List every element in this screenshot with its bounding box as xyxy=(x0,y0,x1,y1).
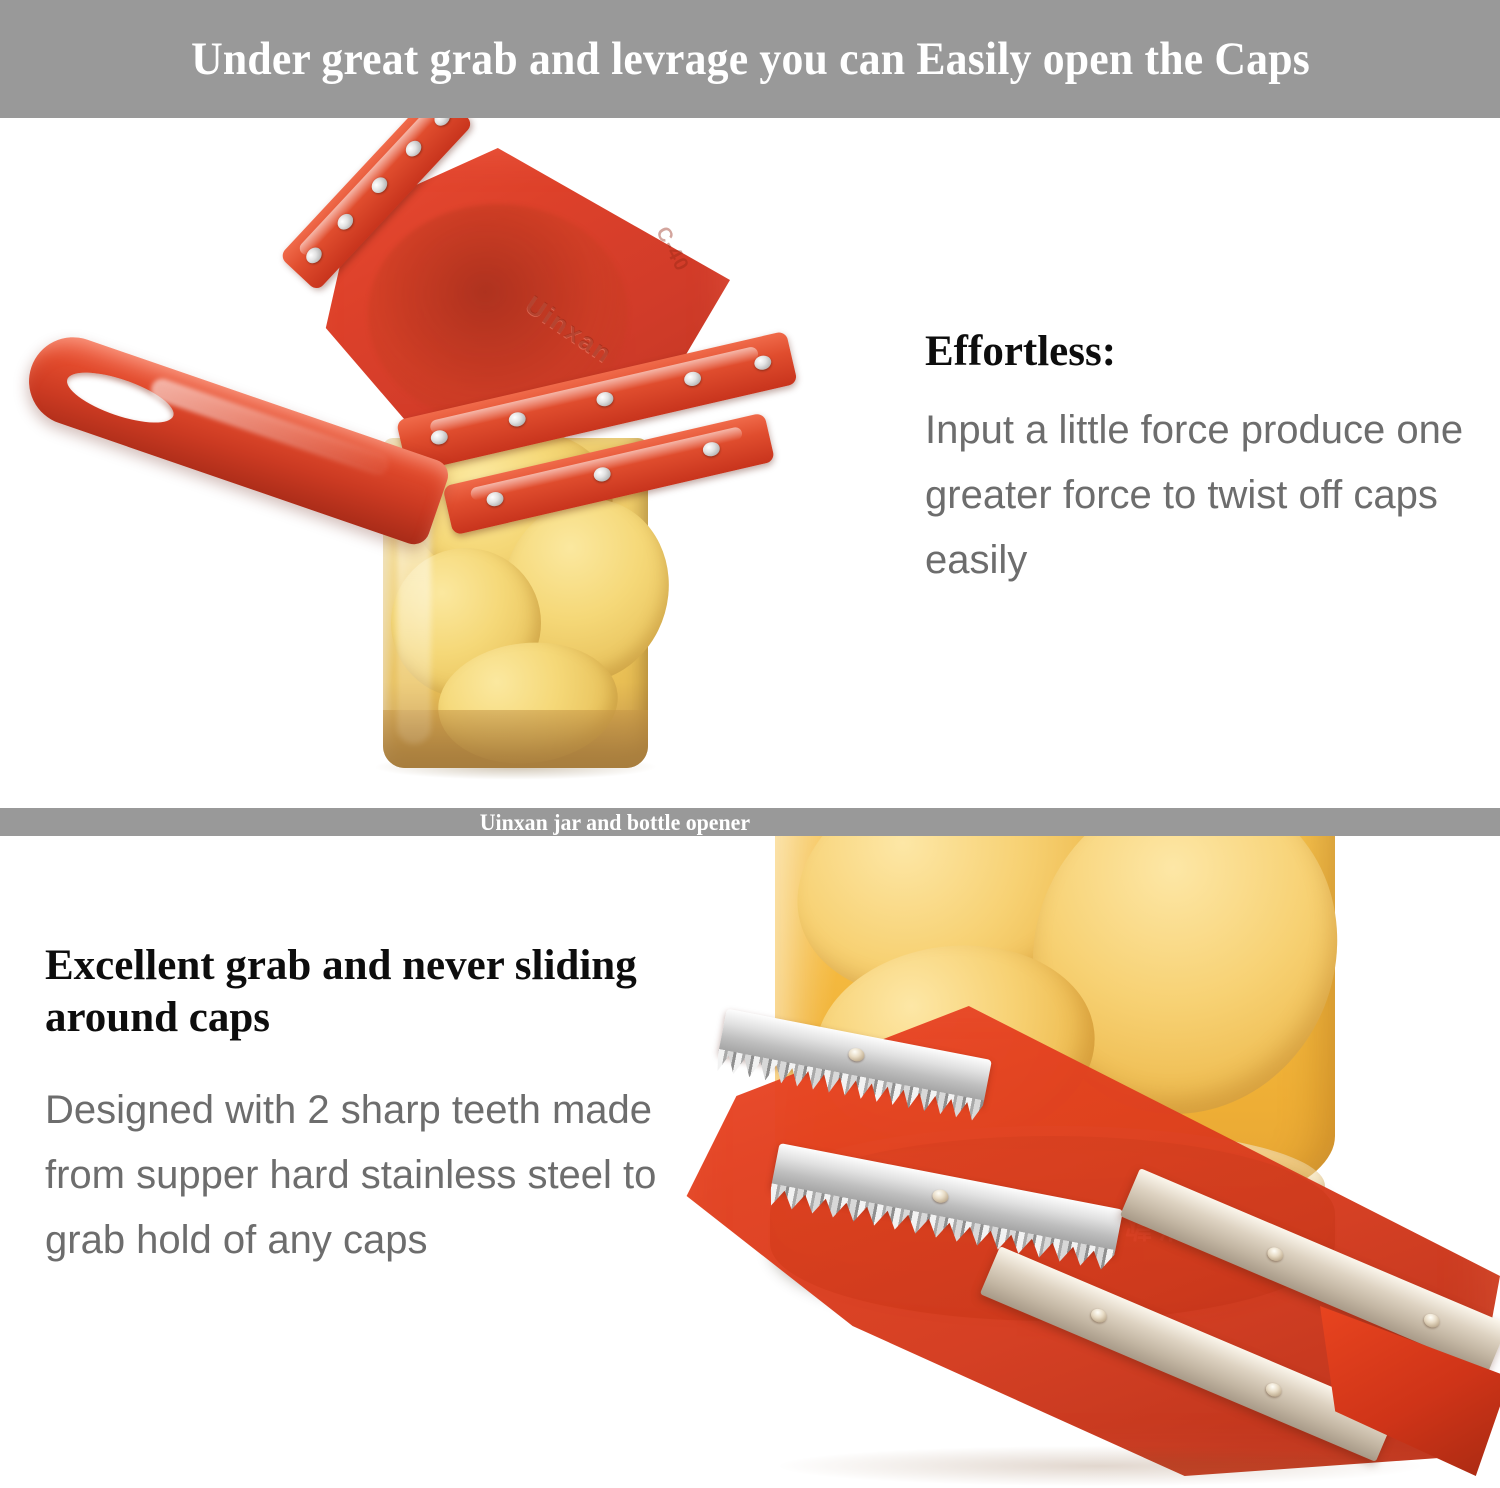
handle-highlight xyxy=(148,376,392,478)
product-caption: Uinxan jar and bottle opener xyxy=(0,811,750,834)
rivet-icon xyxy=(1089,1307,1109,1325)
jar-opener-tool: Uinxan C-40 xyxy=(0,118,900,808)
rivet-icon xyxy=(1265,1245,1285,1263)
rivet-icon xyxy=(931,1188,949,1204)
jar-opener-tool-closeup xyxy=(660,976,1500,1488)
feature-2-heading: Excellent grab and never sliding around … xyxy=(45,940,665,1045)
rivet-icon xyxy=(1264,1381,1284,1399)
rivet-icon xyxy=(847,1047,865,1063)
feature-1-heading: Effortless: xyxy=(925,326,1116,378)
feature-1-body: Input a little force produce one greater… xyxy=(925,398,1470,594)
header-banner: Under great grab and levrage you can Eas… xyxy=(0,0,1500,118)
feature-2-body: Designed with 2 sharp teeth made from su… xyxy=(45,1078,715,1274)
screw-icon xyxy=(431,118,453,129)
product-photo-top: Uinxan C-40 xyxy=(0,118,900,808)
rivet-icon xyxy=(1422,1312,1442,1330)
caption-banner: Uinxan jar and bottle opener xyxy=(0,808,1500,836)
page-title: Under great grab and levrage you can Eas… xyxy=(191,36,1310,83)
contact-shadow xyxy=(780,1446,1420,1486)
product-photo-bottom: 止票当款齿 xyxy=(620,836,1500,1488)
